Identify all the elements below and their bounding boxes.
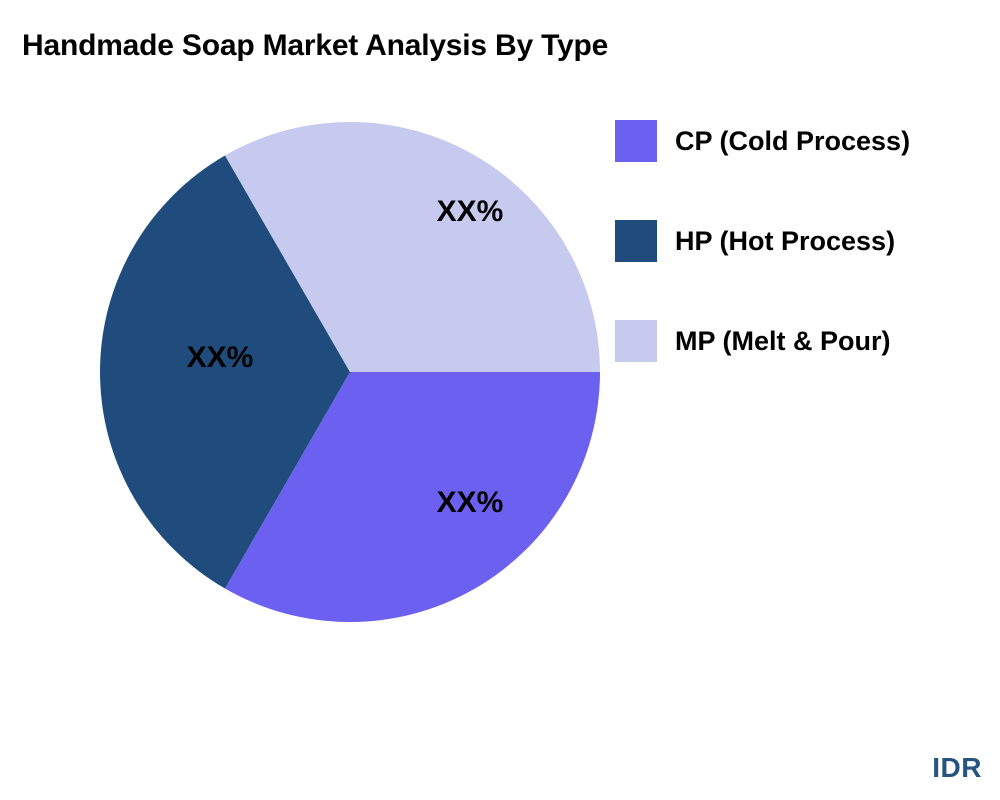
pie-chart-svg: XX%XX%XX%: [100, 122, 600, 622]
legend-item-mp[interactable]: MP (Melt & Pour): [615, 320, 985, 420]
pie-slice-label: XX%: [187, 341, 254, 374]
pie-slice-label: XX%: [437, 195, 504, 228]
pie-chart: XX%XX%XX%: [100, 122, 600, 622]
page-title: Handmade Soap Market Analysis By Type: [22, 25, 922, 67]
legend-label-hp: HP (Hot Process): [675, 217, 895, 265]
legend-label-cp: CP (Cold Process): [675, 117, 910, 165]
chart-legend: CP (Cold Process) HP (Hot Process) MP (M…: [615, 120, 985, 420]
pie-slice-label: XX%: [437, 486, 504, 519]
pie-slice-group: [100, 122, 600, 622]
legend-item-hp[interactable]: HP (Hot Process): [615, 220, 985, 320]
legend-swatch-hp: [615, 220, 657, 262]
legend-label-mp: MP (Melt & Pour): [675, 317, 891, 365]
brand-watermark: IDR: [932, 752, 982, 784]
legend-swatch-mp: [615, 320, 657, 362]
chart-container: Handmade Soap Market Analysis By Type XX…: [0, 0, 1000, 800]
legend-swatch-cp: [615, 120, 657, 162]
legend-item-cp[interactable]: CP (Cold Process): [615, 120, 985, 220]
